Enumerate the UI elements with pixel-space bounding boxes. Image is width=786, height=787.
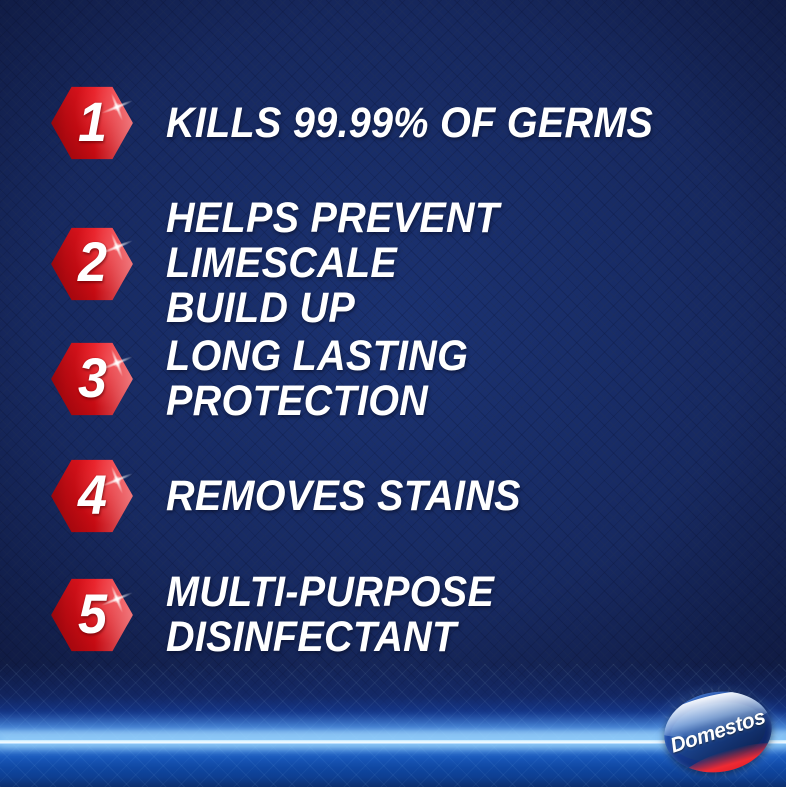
feature-row-3: 3 LONG LASTING PROTECTION (50, 334, 786, 424)
feature-row-1: 1 KILLS 99.99% OF GERMS (50, 79, 696, 167)
badge-number: 3 (53, 333, 131, 421)
hexagon-badge-icon: 5 (50, 571, 134, 659)
feature-label: LONG LASTING PROTECTION (166, 334, 736, 424)
hexagon-badge-icon: 4 (50, 452, 134, 540)
feature-label: MULTI-PURPOSE DISINFECTANT (166, 570, 736, 660)
badge-number: 4 (53, 450, 131, 538)
domestos-logo-icon: Domestos (648, 676, 786, 787)
feature-label: HELPS PREVENT LIMESCALE BUILD UP (166, 196, 736, 331)
feature-row-2: 2 HELPS PREVENT LIMESCALE BUILD UP (50, 196, 786, 331)
hexagon-badge-icon: 1 (50, 79, 134, 167)
feature-label: REMOVES STAINS (166, 474, 521, 519)
hexagon-badge-icon: 2 (50, 220, 134, 308)
feature-row-5: 5 MULTI-PURPOSE DISINFECTANT (50, 570, 786, 660)
badge-number: 1 (53, 77, 131, 165)
hexagon-badge-icon: 3 (50, 335, 134, 423)
badge-number: 5 (53, 569, 131, 657)
badge-number: 2 (53, 218, 131, 306)
feature-row-4: 4 REMOVES STAINS (50, 452, 552, 540)
promo-graphic: 1 KILLS 99.99% OF GERMS 2 HELPS PREVENT … (0, 0, 786, 787)
feature-label: KILLS 99.99% OF GERMS (166, 101, 653, 146)
